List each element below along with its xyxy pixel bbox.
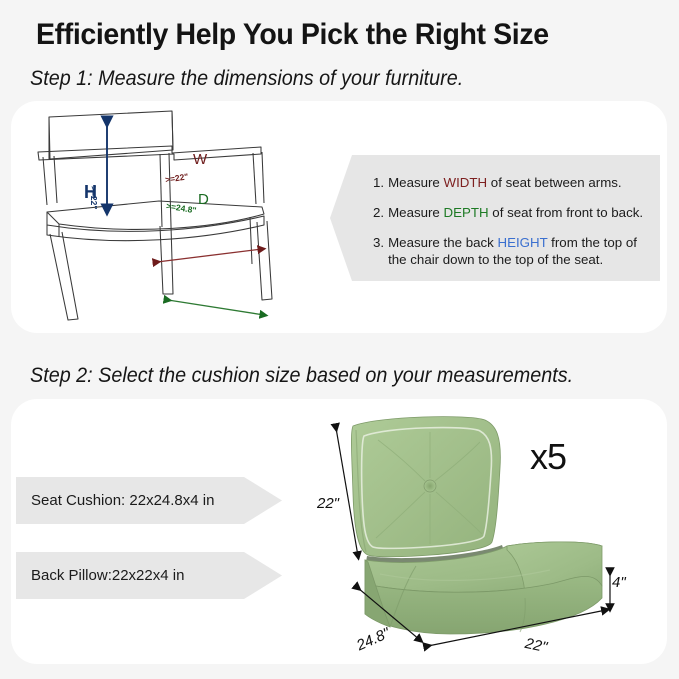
quantity-multiplier-label: x5 bbox=[530, 436, 566, 478]
instruction-list: 1. Measure WIDTH of seat between arms. 2… bbox=[373, 174, 648, 268]
instruction-pre-text: Measure bbox=[388, 175, 443, 190]
seat-cushion-spec-text: Seat Cushion: 22x24.8x4 in bbox=[16, 492, 214, 509]
back-pillow-spec-text: Back Pillow:22x22x4 in bbox=[16, 567, 184, 584]
back-pillow-shape bbox=[351, 417, 500, 557]
dimension-seat-thickness: 4" bbox=[612, 574, 626, 591]
list-item: 1. Measure WIDTH of seat between arms. bbox=[373, 174, 648, 191]
measurement-instructions-panel: 1. Measure WIDTH of seat between arms. 2… bbox=[330, 155, 660, 281]
list-item-text: Measure DEPTH of seat from front to back… bbox=[388, 204, 648, 221]
list-item-number: 1. bbox=[373, 174, 388, 191]
list-item-number: 2. bbox=[373, 204, 388, 221]
keyword-height: HEIGHT bbox=[497, 235, 547, 250]
list-item-text: Measure WIDTH of seat between arms. bbox=[388, 174, 648, 191]
back-pillow-spec-banner: Back Pillow:22x22x4 in bbox=[16, 552, 282, 599]
list-item-number: 3. bbox=[373, 234, 388, 268]
list-item: 3. Measure the back HEIGHT from the top … bbox=[373, 234, 648, 268]
dimension-back-height: 22" bbox=[317, 495, 339, 512]
chair-height-value: >=22" bbox=[89, 186, 99, 209]
step2-label: Step 2: Select the cushion size based on… bbox=[30, 363, 573, 388]
chair-dimension-arrows bbox=[26, 104, 316, 332]
seat-cushion-spec-banner: Seat Cushion: 22x24.8x4 in bbox=[16, 477, 282, 524]
list-item: 2. Measure DEPTH of seat from front to b… bbox=[373, 204, 648, 221]
chair-width-letter: W bbox=[193, 151, 207, 168]
instruction-pre-text: Measure bbox=[388, 205, 443, 220]
instruction-pre-text: Measure the back bbox=[388, 235, 497, 250]
keyword-width: WIDTH bbox=[444, 175, 488, 190]
instruction-post-text: of seat between arms. bbox=[487, 175, 622, 190]
instruction-post-text: of seat from front to back. bbox=[489, 205, 643, 220]
chair-depth-letter: D bbox=[198, 191, 209, 208]
list-item-text: Measure the back HEIGHT from the top of … bbox=[388, 234, 648, 268]
step1-label: Step 1: Measure the dimensions of your f… bbox=[30, 66, 463, 91]
keyword-depth: DEPTH bbox=[444, 205, 489, 220]
page-title: Efficiently Help You Pick the Right Size bbox=[36, 18, 549, 52]
